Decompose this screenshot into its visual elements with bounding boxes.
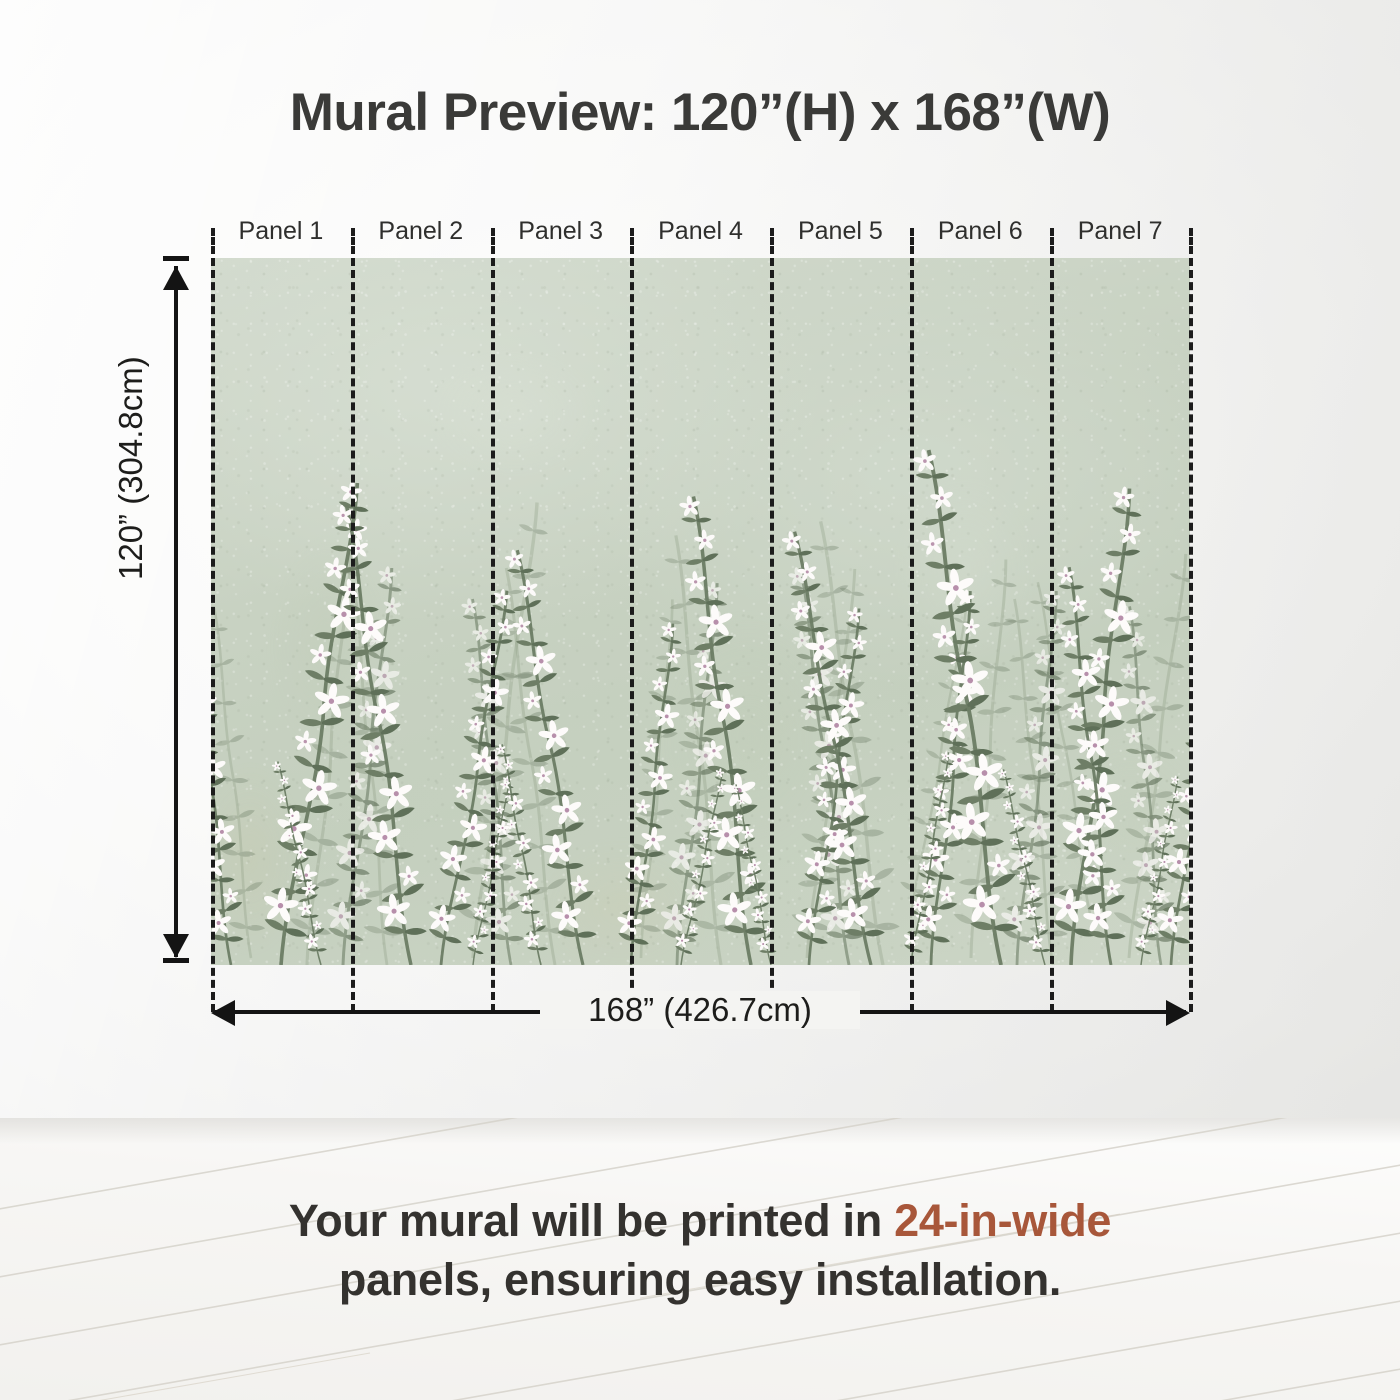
panel-divider-2: [491, 258, 495, 1012]
panel-divider-tick-0: [211, 228, 215, 254]
panel-divider-tick-5: [910, 228, 914, 254]
footer-caption: Your mural will be printed in 24-in-wide…: [0, 1192, 1400, 1309]
panel-label-7: Panel 7: [1050, 214, 1190, 248]
footer-caption-accent: 24-in-wide: [894, 1195, 1111, 1246]
panel-label-4: Panel 4: [631, 214, 771, 248]
width-dimension-label: 168” (426.7cm): [540, 991, 860, 1029]
panel-divider-5: [910, 258, 914, 1012]
panel-divider-tick-2: [491, 228, 495, 254]
height-dimension-line: [174, 266, 178, 957]
panel-divider-1: [351, 258, 355, 1012]
panel-divider-3: [630, 258, 634, 1012]
width-arrowhead-right-icon: [1166, 1000, 1190, 1026]
panel-divider-6: [1050, 258, 1054, 1012]
footer-caption-line-2: panels, ensuring easy installation.: [0, 1251, 1400, 1310]
panel-divider-tick-6: [1050, 228, 1054, 254]
panel-divider-tick-4: [770, 228, 774, 254]
panel-label-5: Panel 5: [770, 214, 910, 248]
height-dimension-label: 120” (304.8cm): [112, 280, 150, 580]
panel-label-3: Panel 3: [491, 214, 631, 248]
panel-label-row: Panel 1 Panel 2 Panel 3 Panel 4 Panel 5 …: [211, 214, 1190, 248]
footer-caption-line-1: Your mural will be printed in 24-in-wide: [0, 1192, 1400, 1251]
panel-label-6: Panel 6: [910, 214, 1050, 248]
panel-divider-tick-1: [351, 228, 355, 254]
panel-divider-tick-7: [1189, 228, 1193, 254]
mural-floral-illustration: [211, 258, 1190, 965]
footer-caption-text-before: Your mural will be printed in: [289, 1195, 894, 1246]
panel-label-1: Panel 1: [211, 214, 351, 248]
panel-label-2: Panel 2: [351, 214, 491, 248]
page-title: Mural Preview: 120”(H) x 168”(W): [0, 82, 1400, 143]
mural-artwork: [211, 258, 1190, 965]
height-tick-top: [163, 256, 189, 261]
panel-divider-0: [211, 258, 215, 1012]
mural-preview-screenshot: Mural Preview: 120”(H) x 168”(W) Panel 1…: [0, 0, 1400, 1400]
height-tick-bottom: [163, 958, 189, 963]
width-arrowhead-left-icon: [211, 1000, 235, 1026]
height-arrowhead-up-icon: [163, 266, 189, 290]
panel-divider-4: [770, 258, 774, 1012]
height-arrowhead-down-icon: [163, 934, 189, 958]
panel-divider-7: [1189, 258, 1193, 1012]
panel-divider-tick-3: [630, 228, 634, 254]
